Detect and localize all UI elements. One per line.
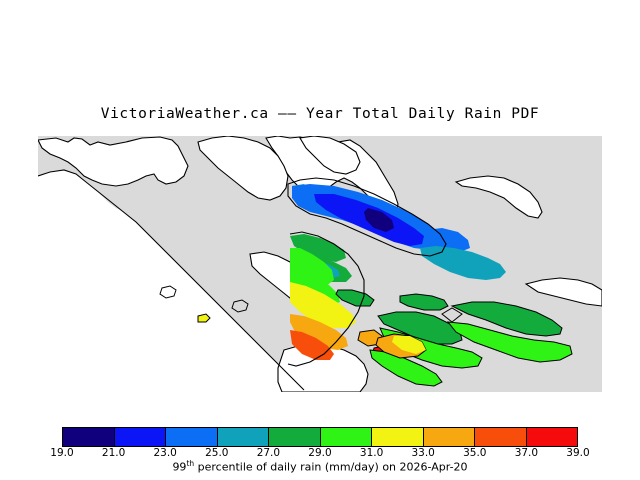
colorbar-bands (62, 427, 578, 447)
page-title: VictoriaWeather.ca —— Year Total Daily R… (0, 106, 640, 122)
colorbar-band-3 (218, 428, 270, 446)
colorbar-band-8 (475, 428, 527, 446)
colorbar-band-0 (63, 428, 115, 446)
inner-islet-outline (160, 286, 176, 298)
colorbar-band-4 (269, 428, 321, 446)
colorbar-band-7 (424, 428, 476, 446)
colorbar-band-2 (166, 428, 218, 446)
colorbar-tick-9: 37.0 (500, 447, 552, 459)
colorbar-tick-0: 19.0 (36, 447, 88, 459)
colorbar-band-9 (527, 428, 578, 446)
colorbar-tick-7: 33.0 (397, 447, 449, 459)
small-islet-outline (232, 300, 248, 312)
colorbar-tick-6: 31.0 (346, 447, 398, 459)
colorbar-tick-4: 27.0 (242, 447, 294, 459)
caption-prefix: 99 (172, 461, 186, 474)
colorbar-tick-10: 39.0 (552, 447, 604, 459)
caption-suffix: percentile of daily rain (mm/day) on 202… (194, 461, 467, 474)
map-svg (38, 136, 602, 392)
colorbar-tick-1: 21.0 (88, 447, 140, 459)
map-canvas (38, 136, 602, 392)
caption-superscript: th (186, 459, 194, 468)
colorbar-tick-5: 29.0 (294, 447, 346, 459)
colorbar-tick-2: 23.0 (139, 447, 191, 459)
weather-map-page: VictoriaWeather.ca —— Year Total Daily R… (0, 0, 640, 480)
colorbar-band-5 (321, 428, 373, 446)
colorbar-tick-8: 35.0 (449, 447, 501, 459)
colorbar-caption: 99th percentile of daily rain (mm/day) o… (0, 459, 640, 474)
colorbar (62, 427, 578, 447)
colorbar-band-1 (115, 428, 167, 446)
colorbar-tick-3: 25.0 (191, 447, 243, 459)
colorbar-band-6 (372, 428, 424, 446)
